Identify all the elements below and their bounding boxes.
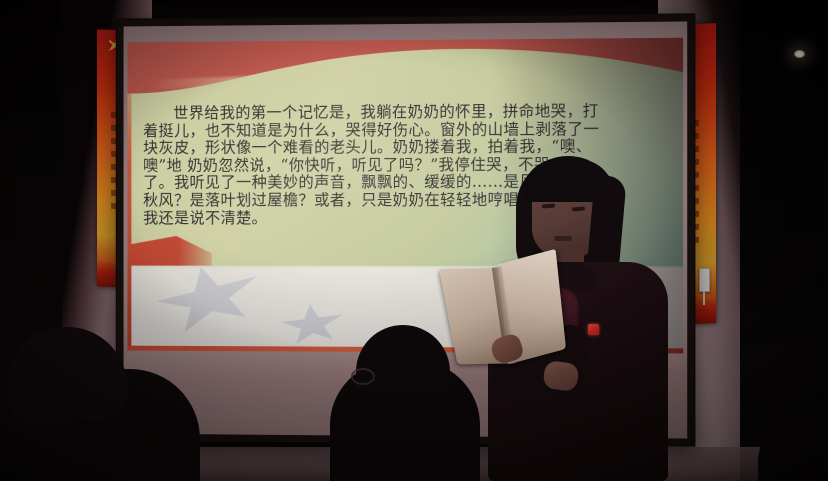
presenter	[480, 150, 680, 481]
classroom-scene: 世界给我的第一个记忆是，我躺在奶奶的怀里，拼命地哭，打 着挺儿，也不知道是为什么…	[0, 0, 828, 481]
right-dark-area	[740, 0, 828, 481]
ceiling-spotlight-icon	[794, 50, 805, 58]
wall-light-switch[interactable]	[699, 268, 710, 292]
party-emblem-pin-icon	[588, 324, 599, 335]
presenter-mouth	[554, 236, 572, 241]
eyeglasses-icon	[351, 368, 375, 385]
slide-left-accent	[127, 42, 131, 350]
